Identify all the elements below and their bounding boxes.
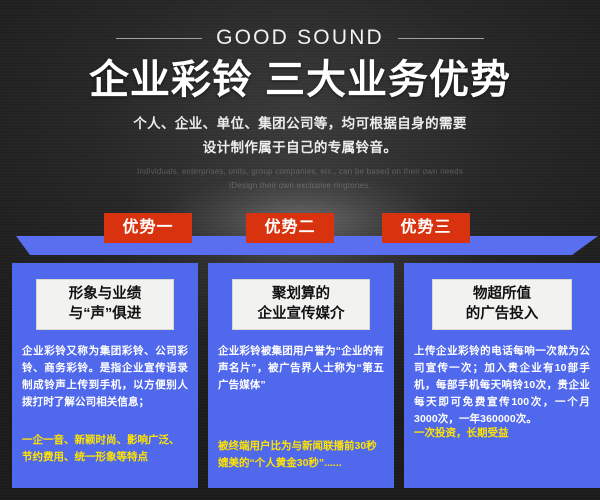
panel-1-title-line-2: 与“声”俱进 bbox=[41, 305, 169, 325]
subtitle-chinese: 个人、企业、单位、集团公司等，均可根据自身的需要 设计制作属于自己的专属铃音。 bbox=[0, 112, 600, 159]
subtitle-english-line-1: Individuals, enterprises, units, group c… bbox=[0, 165, 600, 179]
panel-3-body: 上传企业彩铃的电话每响一次就为公司宣传一次；加入贵企业有10部手机，每部手机每天… bbox=[414, 343, 590, 428]
eyebrow-line-right bbox=[398, 38, 484, 39]
panel-2-title-line-1: 聚划算的 bbox=[237, 285, 365, 305]
panel-2-title: 聚划算的 企业宣传媒介 bbox=[232, 279, 370, 330]
panel-3-footer: 一次投资，长期受益 bbox=[414, 425, 590, 442]
panel-advantage-1[interactable]: 形象与业绩 与“声”俱进 企业彩铃又称为集团彩铃、公司彩铃、商务彩铃。是指企业宣… bbox=[12, 263, 198, 488]
subtitle-english: Individuals, enterprises, units, group c… bbox=[0, 165, 600, 193]
panel-3-title: 物超所值 的广告投入 bbox=[432, 279, 572, 330]
banner-header: GOOD SOUND 企业彩铃 三大业务优势 个人、企业、单位、集团公司等，均可… bbox=[0, 0, 600, 193]
eyebrow-text: GOOD SOUND bbox=[216, 26, 384, 50]
badge-advantage-3[interactable]: 优势三 bbox=[382, 213, 470, 243]
subtitle-english-line-2: lDesign their own exclusive ringtones. bbox=[0, 179, 600, 193]
advantage-badges: 优势一 优势二 优势三 bbox=[0, 213, 600, 245]
eyebrow-line-left bbox=[116, 38, 202, 39]
panel-3-title-line-2: 的广告投入 bbox=[437, 305, 567, 325]
panel-1-body: 企业彩铃又称为集团彩铃、公司彩铃、商务彩铃。是指企业宣传语录制成铃声上传到手机，… bbox=[22, 343, 188, 411]
eyebrow-row: GOOD SOUND bbox=[0, 26, 600, 50]
panel-1-footer: 一企一音、新颖时尚、影响广泛、节约费用、统一形象等特点 bbox=[22, 432, 188, 466]
page-title: 企业彩铃 三大业务优势 bbox=[0, 59, 600, 101]
subtitle-chinese-line-1: 个人、企业、单位、集团公司等，均可根据自身的需要 bbox=[0, 112, 600, 136]
panel-1-title-line-1: 形象与业绩 bbox=[41, 285, 169, 305]
panel-2-footer: 被终端用户比为与新闻联播前30秒媲美的“个人黄金30秒”...... bbox=[218, 438, 384, 472]
advantage-panels: 形象与业绩 与“声”俱进 企业彩铃又称为集团彩铃、公司彩铃、商务彩铃。是指企业宣… bbox=[0, 263, 600, 488]
panel-2-body: 企业彩铃被集团用户誉为“企业的有声名片”，被广告界人士称为“第五广告媒体” bbox=[218, 343, 384, 394]
panel-advantage-3[interactable]: 物超所值 的广告投入 上传企业彩铃的电话每响一次就为公司宣传一次；加入贵企业有1… bbox=[404, 263, 600, 488]
panel-1-title: 形象与业绩 与“声”俱进 bbox=[36, 279, 174, 330]
promo-banner: GOOD SOUND 企业彩铃 三大业务优势 个人、企业、单位、集团公司等，均可… bbox=[0, 0, 600, 500]
panel-3-title-line-1: 物超所值 bbox=[437, 285, 567, 305]
badge-advantage-1[interactable]: 优势一 bbox=[104, 213, 192, 243]
subtitle-chinese-line-2: 设计制作属于自己的专属铃音。 bbox=[0, 136, 600, 160]
badge-advantage-2[interactable]: 优势二 bbox=[246, 213, 334, 243]
panel-advantage-2[interactable]: 聚划算的 企业宣传媒介 企业彩铃被集团用户誉为“企业的有声名片”，被广告界人士称… bbox=[208, 263, 394, 488]
panel-2-title-line-2: 企业宣传媒介 bbox=[237, 305, 365, 325]
